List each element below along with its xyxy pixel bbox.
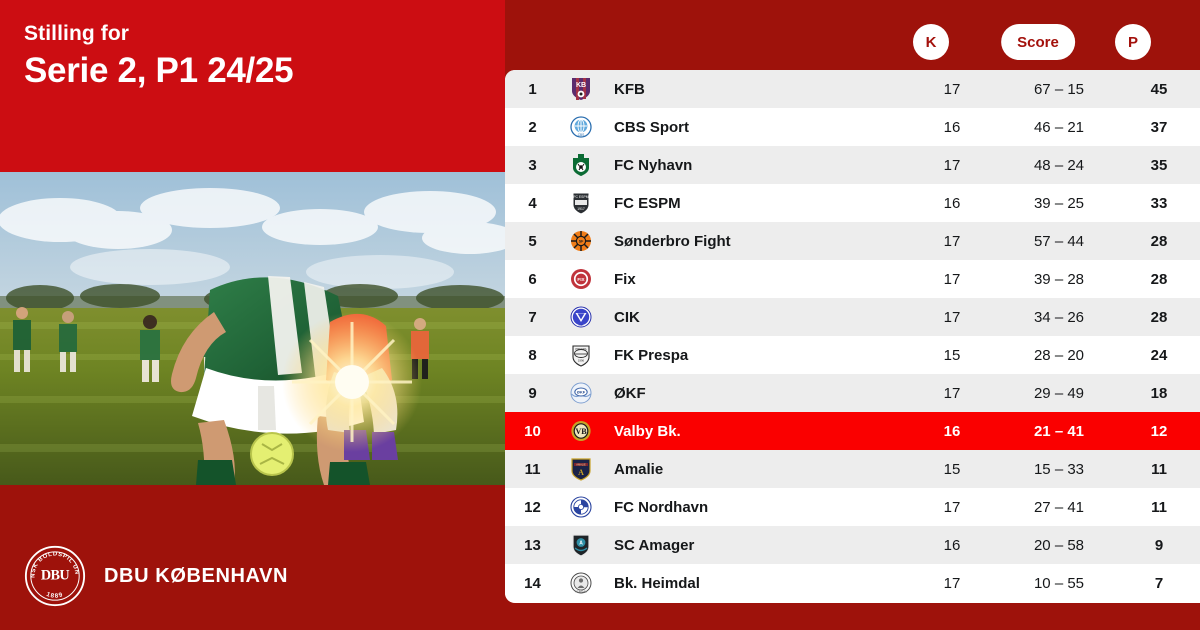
cell-points: 35 [1118,157,1200,174]
table-row[interactable]: 3FC Nyhavn1748 – 2435 [505,146,1200,184]
cell-goal-score: 28 – 20 [1000,347,1118,364]
cell-matches-played: 16 [904,537,1000,554]
cell-club-name: Amalie [602,461,904,478]
table-row[interactable]: 10VBValby Bk.1621 – 4112 [505,412,1200,450]
svg-text:1996: 1996 [578,359,585,363]
cell-position: 8 [505,347,560,364]
cell-goal-score: 39 – 25 [1000,195,1118,212]
sc-amager-crest-icon: A [560,533,602,557]
table-row[interactable]: 1KBKFB1767 – 1545 [505,70,1200,108]
cell-goal-score: 39 – 28 [1000,271,1118,288]
svg-text:PRESPA: PRESPA [575,347,586,351]
cell-goal-score: 46 – 21 [1000,119,1118,136]
cell-position: 10 [505,423,560,440]
cik-crest-icon: CIK [560,305,602,329]
left-panel: Stilling for Serie 2, P1 24/25 [0,0,505,630]
cell-position: 2 [505,119,560,136]
sonderbro-fight-crest-icon: SF [560,229,602,253]
cell-points: 28 [1118,233,1200,250]
page-title: Serie 2, P1 24/25 [24,51,293,91]
cell-club-name: SC Amager [602,537,904,554]
svg-text:AMALIE: AMALIE [576,462,586,466]
cell-matches-played: 17 [904,81,1000,98]
cell-club-name: Bk. Heimdal [602,575,904,592]
cell-position: 9 [505,385,560,402]
cell-points: 33 [1118,195,1200,212]
brand-name: DBU KØBENHAVN [104,565,288,588]
cell-club-name: ØKF [602,385,904,402]
cell-goal-score: 34 – 26 [1000,309,1118,326]
cell-club-name: CBS Sport [602,119,904,136]
svg-text:SF: SF [579,239,584,243]
cell-position: 5 [505,233,560,250]
fc-nyhavn-crest-icon [560,153,602,177]
table-row[interactable]: 4FC ESPM1917FC ESPM1639 – 2533 [505,184,1200,222]
kfb-crest-icon: KB [560,77,602,101]
cell-goal-score: 67 – 15 [1000,81,1118,98]
dbu-crest-icon: DANSK BOLDSPIL UNION 1889 DBU [24,545,86,607]
cell-position: 4 [505,195,560,212]
cell-points: 11 [1118,499,1200,516]
cell-position: 1 [505,81,560,98]
cell-goal-score: 10 – 55 [1000,575,1118,592]
okf-crest-icon: ØKF [560,381,602,405]
svg-text:HEIMDAL: HEIMDAL [575,589,587,593]
amalie-crest-icon: AMALIEA [560,457,602,481]
cell-matches-played: 17 [904,157,1000,174]
cell-goal-score: 48 – 24 [1000,157,1118,174]
cell-position: 11 [505,461,560,478]
table-row[interactable]: 14HEIMDALBk. Heimdal1710 – 557 [505,564,1200,602]
table-row[interactable]: 13ASC Amager1620 – 589 [505,526,1200,564]
cell-goal-score: 57 – 44 [1000,233,1118,250]
hero-photo [0,172,505,485]
cell-points: 28 [1118,309,1200,326]
table-row[interactable]: 5SFSønderbro Fight1757 – 4428 [505,222,1200,260]
cell-matches-played: 16 [904,195,1000,212]
cell-club-name: KFB [602,81,904,98]
cell-position: 6 [505,271,560,288]
brand-band: DANSK BOLDSPIL UNION 1889 DBU DBU KØBENH… [0,485,505,630]
valby-bk-crest-icon: VB [560,419,602,443]
cbs-sport-crest-icon: CBS [560,115,602,139]
cell-club-name: Valby Bk. [602,423,904,440]
cell-club-name: FC Nyhavn [602,157,904,174]
fk-prespa-crest-icon: PRESPA1996 [560,343,602,367]
cell-matches-played: 17 [904,309,1000,326]
football-action-photo [0,172,505,485]
svg-text:FIX: FIX [577,277,585,282]
cell-goal-score: 27 – 41 [1000,499,1118,516]
standings-table: 1KBKFB1767 – 15452CBSCBS Sport1646 – 213… [505,70,1200,603]
cell-points: 24 [1118,347,1200,364]
cell-matches-played: 17 [904,499,1000,516]
cell-matches-played: 15 [904,461,1000,478]
cell-club-name: FC ESPM [602,195,904,212]
cell-position: 14 [505,575,560,592]
cell-goal-score: 21 – 41 [1000,423,1118,440]
table-row[interactable]: 6FIXFix1739 – 2828 [505,260,1200,298]
svg-text:ØKF: ØKF [577,390,586,395]
cell-matches-played: 15 [904,347,1000,364]
svg-text:1917: 1917 [577,207,585,211]
title-band: Stilling for Serie 2, P1 24/25 [0,0,505,172]
table-row[interactable]: 11AMALIEAAmalie1515 – 3311 [505,450,1200,488]
cell-points: 18 [1118,385,1200,402]
cell-matches-played: 17 [904,233,1000,250]
svg-text:KB: KB [576,82,586,89]
cell-position: 3 [505,157,560,174]
cell-points: 45 [1118,81,1200,98]
table-row[interactable]: 8PRESPA1996FK Prespa1528 – 2024 [505,336,1200,374]
cell-club-name: FK Prespa [602,347,904,364]
cell-club-name: FC Nordhavn [602,499,904,516]
cell-club-name: Sønderbro Fight [602,233,904,250]
svg-text:A: A [579,540,583,546]
cell-position: 7 [505,309,560,326]
fc-nordhavn-crest-icon [560,495,602,519]
table-row[interactable]: 2CBSCBS Sport1646 – 2137 [505,108,1200,146]
cell-position: 12 [505,499,560,516]
cell-matches-played: 17 [904,575,1000,592]
cell-club-name: CIK [602,309,904,326]
cell-points: 11 [1118,461,1200,478]
cell-goal-score: 29 – 49 [1000,385,1118,402]
cell-matches-played: 17 [904,385,1000,402]
cell-position: 13 [505,537,560,554]
kicker-text: Stilling for [24,22,129,46]
cell-points: 12 [1118,423,1200,440]
svg-text:CBS: CBS [578,133,585,137]
fc-espm-crest-icon: FC ESPM1917 [560,191,602,215]
table-row[interactable]: 12FC Nordhavn1727 – 4111 [505,488,1200,526]
fix-crest-icon: FIX [560,267,602,291]
svg-text:VB: VB [575,427,587,436]
column-header-p: P [1115,24,1151,60]
cell-matches-played: 16 [904,119,1000,136]
cell-goal-score: 15 – 33 [1000,461,1118,478]
cell-matches-played: 17 [904,271,1000,288]
cell-points: 7 [1118,575,1200,592]
bk-heimdal-crest-icon: HEIMDAL [560,571,602,595]
svg-text:1889: 1889 [45,591,65,600]
table-row[interactable]: 9ØKFØKF1729 – 4918 [505,374,1200,412]
cell-points: 9 [1118,537,1200,554]
cell-matches-played: 16 [904,423,1000,440]
column-header-score: Score [1001,24,1075,60]
brand-lockup: DANSK BOLDSPIL UNION 1889 DBU DBU KØBENH… [24,545,288,607]
cell-club-name: Fix [602,271,904,288]
svg-text:CIK: CIK [578,323,583,327]
svg-text:FC ESPM: FC ESPM [573,195,588,199]
column-header-k: K [913,24,949,60]
table-header-badges: K Score P [505,0,1200,70]
cell-points: 28 [1118,271,1200,288]
svg-text:DBU: DBU [41,568,70,584]
table-row[interactable]: 7CIKCIK1734 – 2628 [505,298,1200,336]
cell-points: 37 [1118,119,1200,136]
cell-goal-score: 20 – 58 [1000,537,1118,554]
svg-text:A: A [578,468,584,477]
